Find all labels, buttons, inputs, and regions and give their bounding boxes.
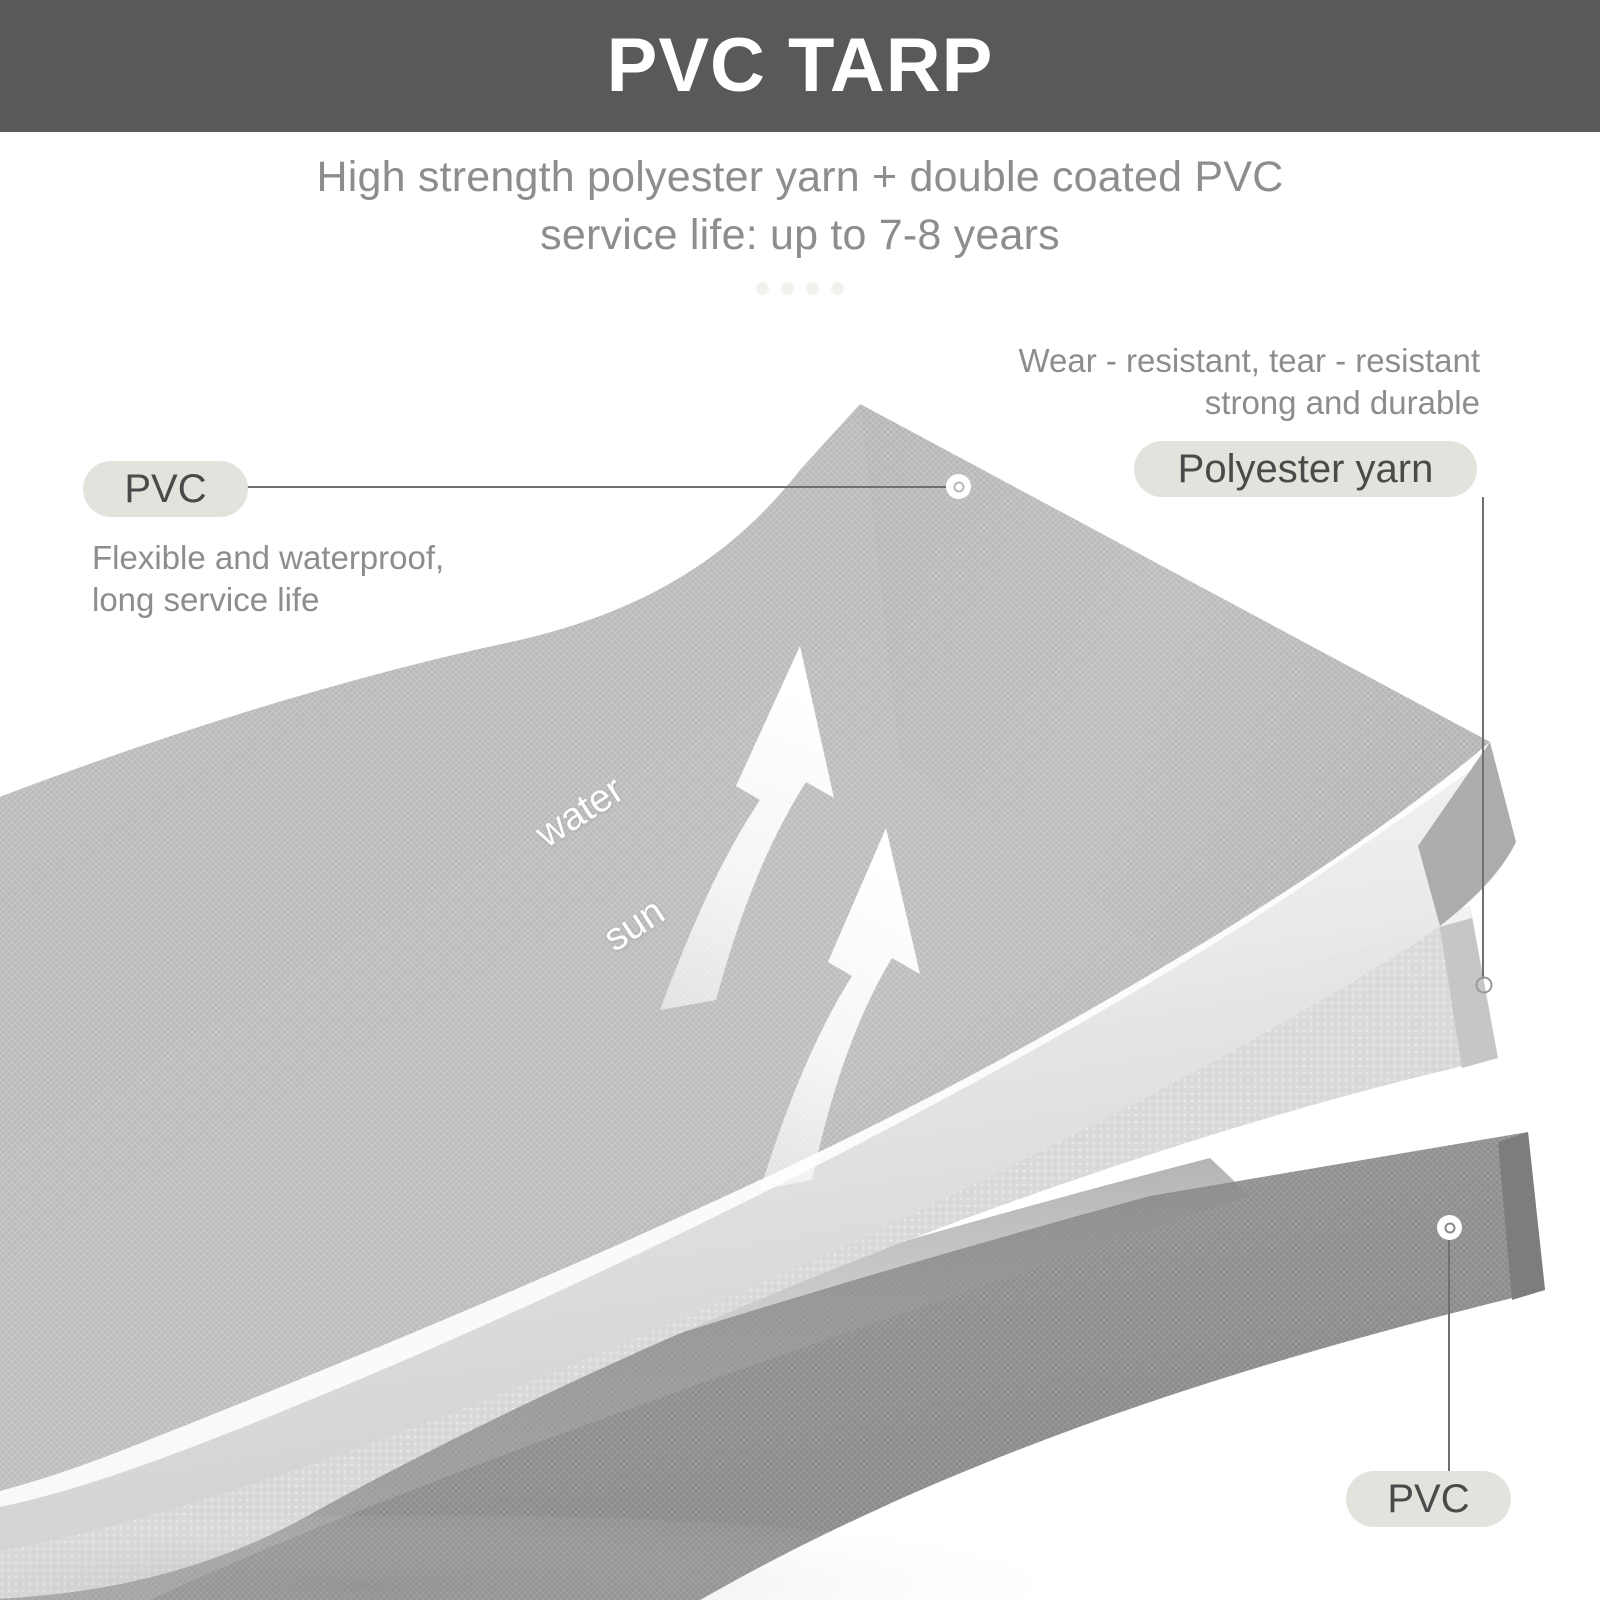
marker-ring-icon (953, 481, 964, 492)
carousel-dots[interactable] (0, 282, 1600, 295)
carousel-dot[interactable] (781, 282, 794, 295)
leader-marker-polyester (1471, 972, 1496, 997)
page-title: PVC TARP (607, 28, 994, 104)
carousel-dot[interactable] (756, 282, 769, 295)
carousel-dot[interactable] (806, 282, 819, 295)
subtitle-block: High strength polyester yarn + double co… (0, 148, 1600, 264)
carousel-dot[interactable] (831, 282, 844, 295)
callout-description-pvc-top: Flexible and waterproof, long service li… (92, 537, 612, 621)
leader-marker-pvc-bottom (1437, 1215, 1462, 1240)
leader-line-pvc-top (240, 486, 955, 488)
marker-ring-icon (1475, 976, 1492, 993)
marker-ring-icon (1444, 1222, 1455, 1233)
subtitle-line-2: service life: up to 7-8 years (0, 206, 1600, 264)
callout-pill-pvc-bottom: PVC (1346, 1471, 1511, 1527)
leader-line-polyester (1482, 497, 1484, 979)
leader-line-pvc-bottom (1448, 1227, 1450, 1474)
subtitle-line-1: High strength polyester yarn + double co… (0, 148, 1600, 206)
infographic-canvas: PVC TARP High strength polyester yarn + … (0, 0, 1600, 1600)
leader-marker-pvc-top (946, 474, 971, 499)
header-bar: PVC TARP (0, 0, 1600, 132)
callout-pill-polyester-yarn: Polyester yarn (1134, 441, 1477, 497)
callout-pill-pvc-top: PVC (83, 461, 248, 517)
callout-description-polyester: Wear - resistant, tear - resistant stron… (880, 340, 1480, 424)
